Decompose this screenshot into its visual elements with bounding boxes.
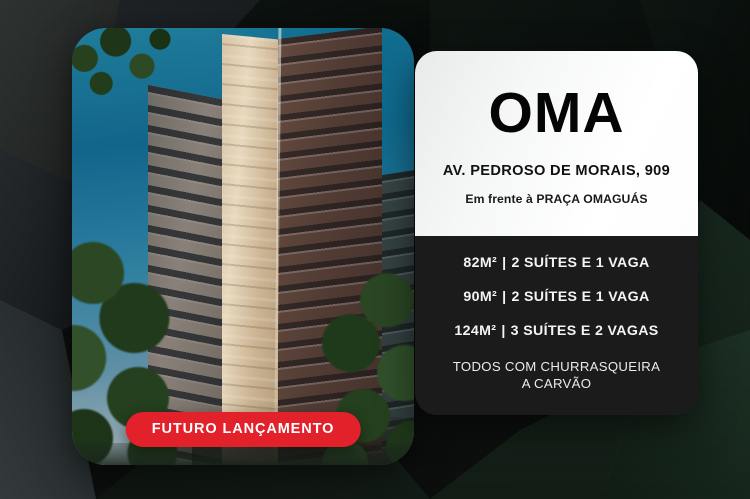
promo-banner: FUTURO LANÇAMENTO OMA AV. PEDROSO DE MOR… bbox=[0, 0, 750, 499]
info-card: OMA AV. PEDROSO DE MORAIS, 909 Em frente… bbox=[415, 51, 698, 415]
info-card-header: OMA AV. PEDROSO DE MORAIS, 909 Em frente… bbox=[415, 51, 698, 236]
address-reference: Em frente à PRAÇA OMAGUÁS bbox=[465, 192, 647, 206]
amenity-note: TODOS COM CHURRASQUEIRA A CARVÃO bbox=[453, 359, 660, 393]
spec-area: 124M² bbox=[454, 323, 496, 339]
status-badge[interactable]: FUTURO LANÇAMENTO bbox=[126, 412, 361, 447]
building-photo-card: FUTURO LANÇAMENTO bbox=[72, 28, 414, 465]
address-line: AV. PEDROSO DE MORAIS, 909 bbox=[443, 163, 670, 179]
page-title: OMA bbox=[489, 85, 625, 142]
spec-area: 90M² bbox=[463, 289, 497, 305]
amenity-note-line-2: A CARVÃO bbox=[453, 376, 660, 393]
tree-top-left bbox=[72, 28, 178, 116]
spec-separator: | bbox=[496, 323, 510, 339]
spec-detail: 3 SUÍTES E 2 VAGAS bbox=[511, 323, 659, 339]
building-center-floor-lines bbox=[222, 34, 278, 465]
spec-separator: | bbox=[497, 289, 511, 305]
info-card-specs: 82M²|2 SUÍTES E 1 VAGA 90M²|2 SUÍTES E 1… bbox=[415, 236, 698, 415]
spec-area: 82M² bbox=[463, 255, 497, 271]
spec-detail: 2 SUÍTES E 1 VAGA bbox=[511, 255, 649, 271]
list-item: 124M²|3 SUÍTES E 2 VAGAS bbox=[454, 323, 658, 339]
spec-detail: 2 SUÍTES E 1 VAGA bbox=[511, 289, 649, 305]
building-photo-image bbox=[72, 28, 414, 465]
list-item: 82M²|2 SUÍTES E 1 VAGA bbox=[463, 255, 649, 271]
amenity-note-line-1: TODOS COM CHURRASQUEIRA bbox=[453, 359, 660, 376]
list-item: 90M²|2 SUÍTES E 1 VAGA bbox=[463, 289, 649, 305]
spec-separator: | bbox=[497, 255, 511, 271]
